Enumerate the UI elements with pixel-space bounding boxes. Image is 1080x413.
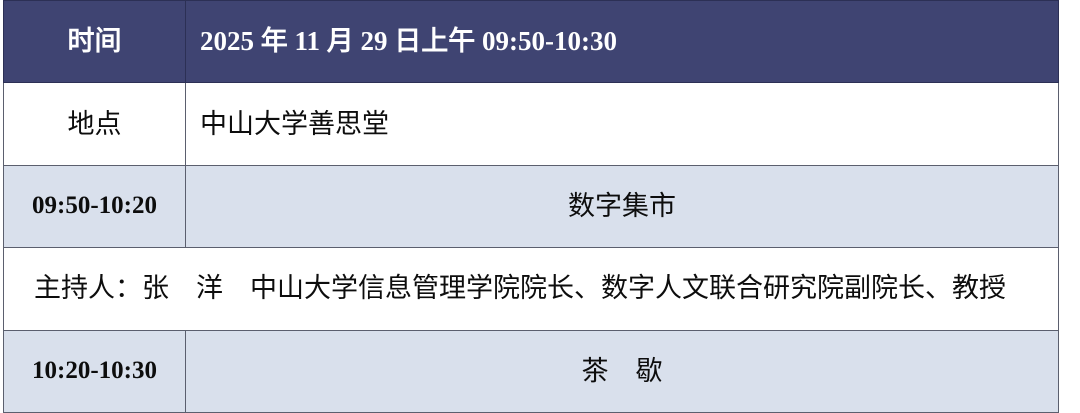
break-time-cell: 10:20-10:30 [4, 330, 186, 412]
agenda-schedule-table: 时间 2025 年 11 月 29 日上午 09:50-10:30 地点 中山大… [3, 0, 1059, 413]
time-label-cell: 时间 [4, 1, 186, 83]
moderator-cell: 主持人：张 洋 中山大学信息管理学院院长、数字人文联合研究院副院长、教授 [4, 248, 1059, 330]
session-time-cell: 09:50-10:20 [4, 165, 186, 247]
break-title-cell: 茶 歇 [186, 330, 1059, 412]
session-title-cell: 数字集市 [186, 165, 1059, 247]
venue-label-cell: 地点 [4, 83, 186, 165]
table-row: 时间 2025 年 11 月 29 日上午 09:50-10:30 [4, 1, 1059, 83]
table-row: 09:50-10:20 数字集市 [4, 165, 1059, 247]
time-value-cell: 2025 年 11 月 29 日上午 09:50-10:30 [186, 1, 1059, 83]
table-row: 10:20-10:30 茶 歇 [4, 330, 1059, 412]
schedule-table-container: 时间 2025 年 11 月 29 日上午 09:50-10:30 地点 中山大… [3, 0, 1058, 413]
table-row: 地点 中山大学善思堂 [4, 83, 1059, 165]
venue-value-cell: 中山大学善思堂 [186, 83, 1059, 165]
table-row: 主持人：张 洋 中山大学信息管理学院院长、数字人文联合研究院副院长、教授 [4, 248, 1059, 330]
